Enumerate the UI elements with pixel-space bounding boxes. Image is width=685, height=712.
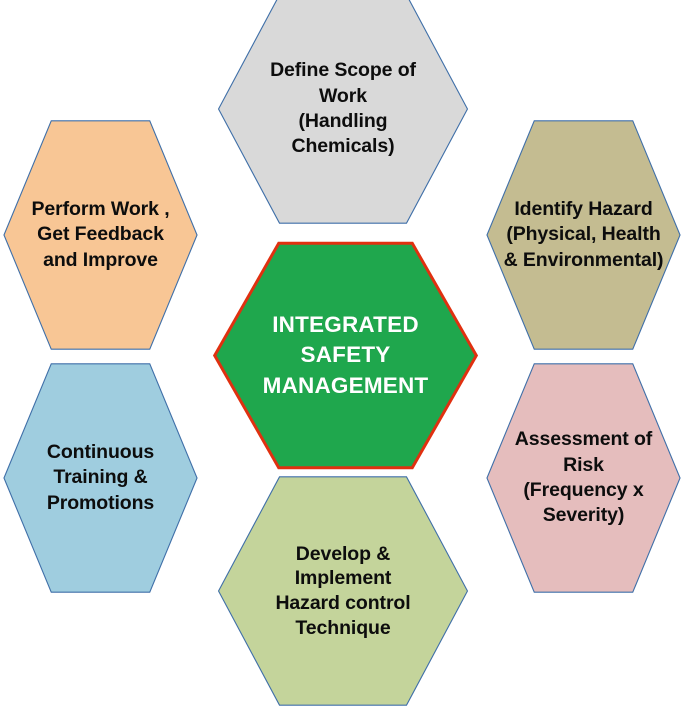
hexagon-shape-perform-work [2,118,199,352]
hexagon-shape-center [212,240,479,471]
hexagon-identify-hazard[interactable]: Identify Hazard (Physical, Health & Envi… [485,118,682,352]
hexagon-shape-identify-hazard [485,118,682,352]
hexagon-polygon [487,121,680,349]
hexagon-shape-define-scope [216,0,470,226]
hexagon-integrated-safety-management[interactable]: INTEGRATED SAFETY MANAGEMENT [212,240,479,471]
hexagon-hazard-control[interactable]: Develop & Implement Hazard control Techn… [216,474,470,708]
hexagon-continuous-training[interactable]: Continuous Training & Promotions [2,361,199,595]
diagram-canvas: Define Scope of Work (Handling Chemicals… [0,0,685,712]
hexagon-polygon [219,477,468,705]
hexagon-polygon [487,364,680,592]
hexagon-shape-assessment-of-risk [485,361,682,595]
hexagon-assessment-of-risk[interactable]: Assessment of Risk (Frequency x Severity… [485,361,682,595]
hexagon-define-scope[interactable]: Define Scope of Work (Handling Chemicals… [216,0,470,226]
hexagon-polygon [219,0,468,223]
hexagon-perform-work[interactable]: Perform Work , Get Feedback and Improve [2,118,199,352]
hexagon-shape-continuous-training [2,361,199,595]
hexagon-polygon-center [215,243,477,468]
hexagon-polygon [4,121,197,349]
hexagon-shape-hazard-control [216,474,470,708]
hexagon-polygon [4,364,197,592]
